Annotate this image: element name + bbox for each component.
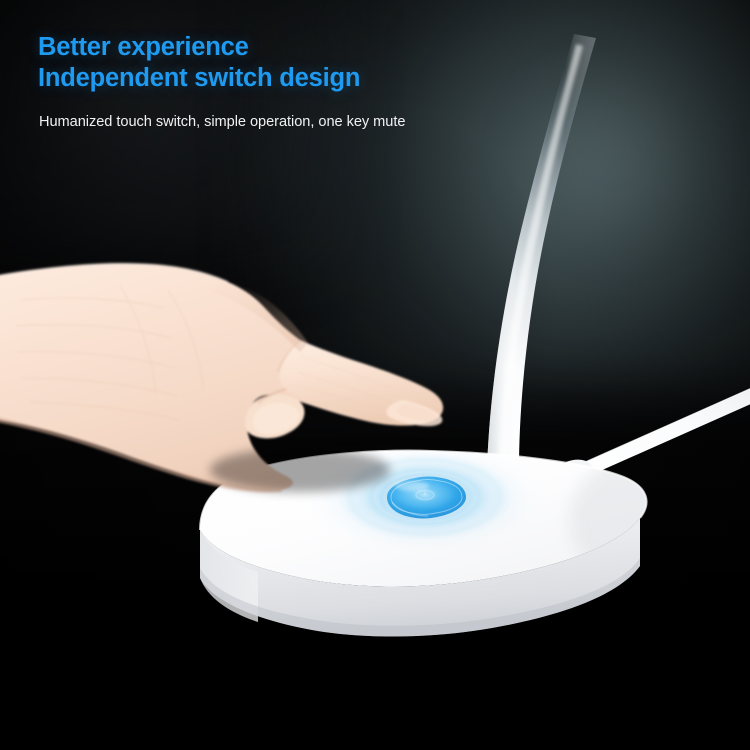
product-feature-image: Better experience Independent switch des…	[0, 0, 750, 750]
subtitle: Humanized touch switch, simple operation…	[39, 112, 405, 132]
headline-line-1: Better experience	[38, 32, 360, 63]
headline-line-2: Independent switch design	[38, 63, 360, 94]
headline: Better experience Independent switch des…	[38, 32, 360, 94]
